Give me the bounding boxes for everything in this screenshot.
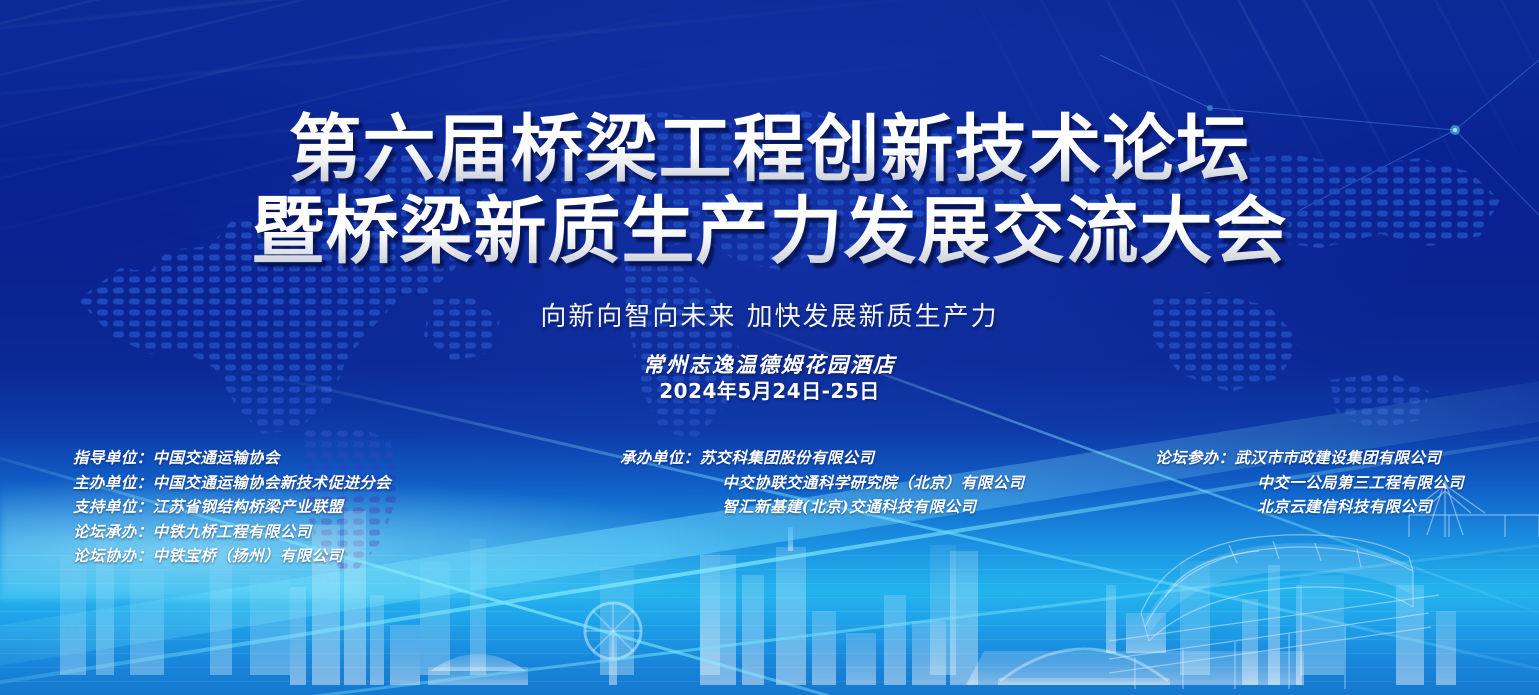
credits-column-right: 论坛参办：武汉市市政建设集团有限公司 中交一公局第三工程有限公司 北京云建信科技… [1155, 446, 1464, 520]
credit-row: 智汇新基建(北京)交通科技有限公司 [620, 495, 1024, 520]
title-line-1: 第六届桥梁工程创新技术论坛 [0, 108, 1539, 190]
credit-label: 承办单位： [620, 446, 700, 471]
credit-label: 论坛协办： [73, 544, 153, 569]
credit-value: 中铁宝桥（扬州）有限公司 [153, 544, 344, 569]
credit-value: 武汉市市政建设集团有限公司 [1235, 446, 1442, 471]
credit-row: 论坛参办：武汉市市政建设集团有限公司 [1155, 446, 1464, 471]
credit-value: 北京云建信科技有限公司 [1257, 495, 1432, 520]
credits-column-left: 指导单位：中国交通运输协会 主办单位：中国交通运输协会新技术促进分会 支持单位：… [73, 446, 391, 569]
title-block: 第六届桥梁工程创新技术论坛 暨桥梁新质生产力发展交流大会 [0, 108, 1539, 272]
venue-block: 常州志逸温德姆花园酒店 2024年5月24日-25日 [0, 352, 1539, 405]
credit-label: 论坛参办： [1155, 446, 1235, 471]
credit-label: 论坛承办： [73, 520, 153, 545]
event-dates: 2024年5月24日-25日 [0, 378, 1539, 405]
subtitle: 向新向智向未来 加快发展新质生产力 [0, 296, 1539, 333]
credit-value: 中国交通运输协会新技术促进分会 [153, 471, 392, 496]
credit-value: 中交一公局第三工程有限公司 [1257, 471, 1464, 496]
credit-row: 论坛协办：中铁宝桥（扬州）有限公司 [73, 544, 391, 569]
credit-value: 中交协联交通科学研究院（北京）有限公司 [722, 471, 1024, 496]
credit-label: 支持单位： [73, 495, 153, 520]
credit-value: 苏交科集团股份有限公司 [700, 446, 875, 471]
venue-name: 常州志逸温德姆花园酒店 [0, 352, 1539, 378]
credit-row: 北京云建信科技有限公司 [1155, 495, 1464, 520]
conference-banner: 第六届桥梁工程创新技术论坛 暨桥梁新质生产力发展交流大会 向新向智向未来 加快发… [0, 0, 1539, 695]
credit-value: 江苏省钢结构桥梁产业联盟 [153, 495, 344, 520]
credit-row: 论坛承办：中铁九桥工程有限公司 [73, 520, 391, 545]
credit-row: 支持单位：江苏省钢结构桥梁产业联盟 [73, 495, 391, 520]
title-line-2: 暨桥梁新质生产力发展交流大会 [0, 190, 1539, 272]
credit-label: 指导单位： [73, 446, 153, 471]
credit-row: 承办单位：苏交科集团股份有限公司 [620, 446, 1024, 471]
credit-row: 中交一公局第三工程有限公司 [1155, 471, 1464, 496]
credit-value: 智汇新基建(北京)交通科技有限公司 [722, 495, 976, 520]
credits-column-middle: 承办单位：苏交科集团股份有限公司 中交协联交通科学研究院（北京）有限公司 智汇新… [620, 446, 1024, 520]
credit-row: 主办单位：中国交通运输协会新技术促进分会 [73, 471, 391, 496]
credit-row: 中交协联交通科学研究院（北京）有限公司 [620, 471, 1024, 496]
credit-label: 主办单位： [73, 471, 153, 496]
credit-value: 中铁九桥工程有限公司 [153, 520, 312, 545]
credit-row: 指导单位：中国交通运输协会 [73, 446, 391, 471]
credits-section: 指导单位：中国交通运输协会 主办单位：中国交通运输协会新技术促进分会 支持单位：… [0, 446, 1539, 566]
credit-value: 中国交通运输协会 [153, 446, 280, 471]
